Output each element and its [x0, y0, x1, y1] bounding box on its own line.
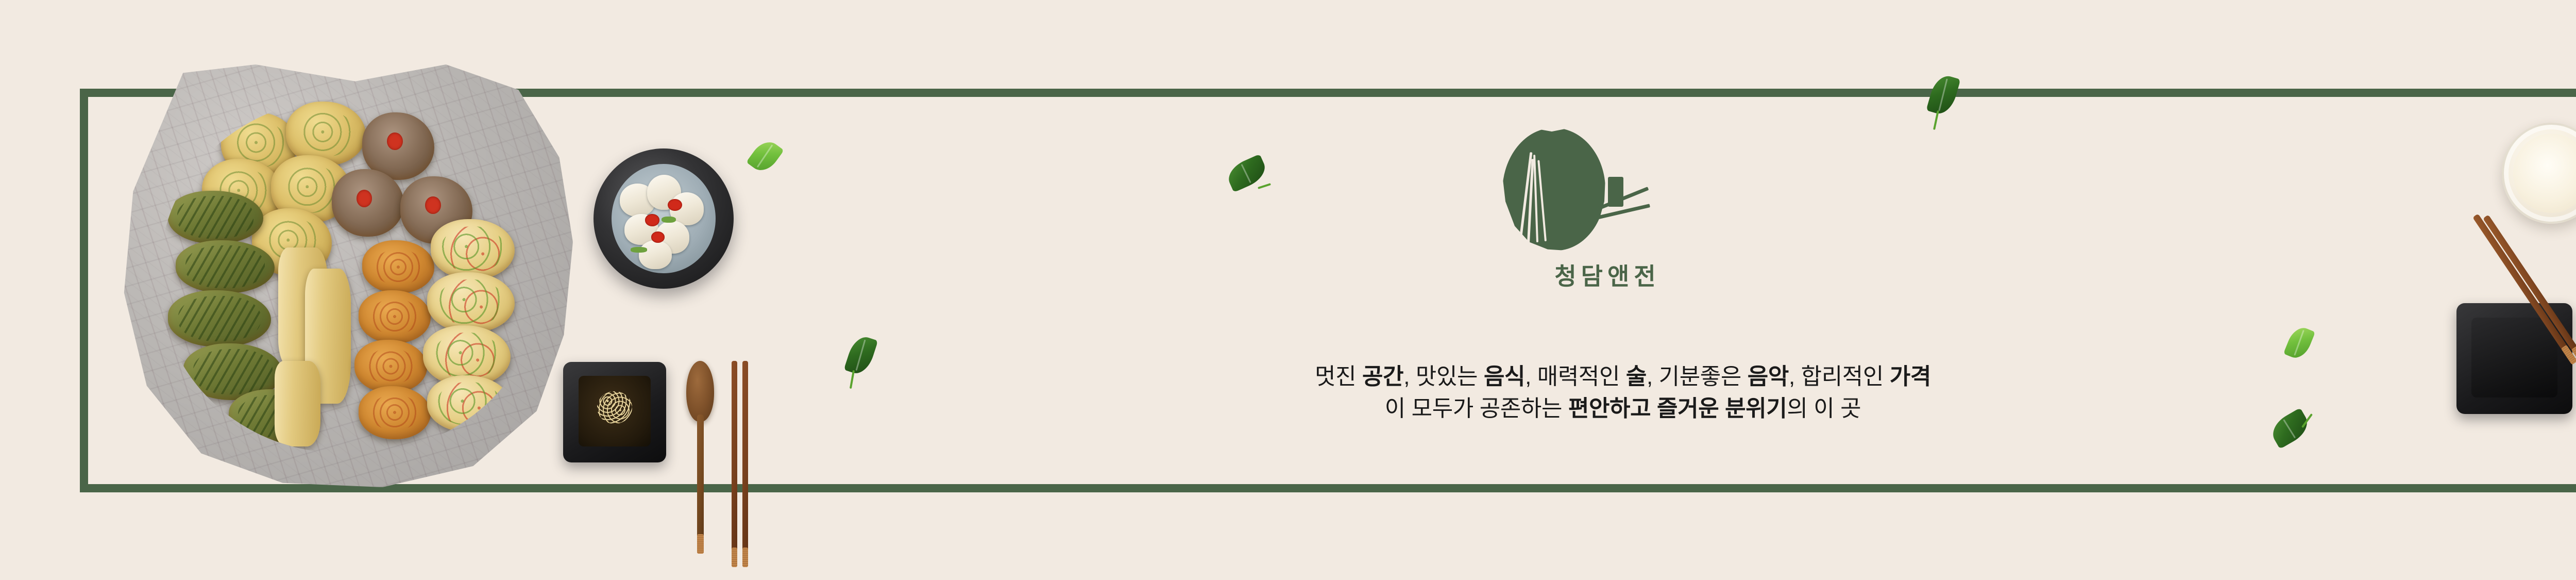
photo-chopstick-left-b: [742, 361, 748, 567]
chopstick-ferrule: [732, 548, 737, 567]
brand-name: 청담앤전: [1401, 258, 1814, 292]
leaf-stem: [1258, 183, 1271, 189]
basil-leaf-icon: [844, 334, 878, 377]
photo-wooden-spoon: [686, 361, 714, 567]
restaurant-promo-banner: 청담앤전 멋진 공간, 맛있는 음식, 매력적인 술, 기분좋은 음악, 합리적…: [0, 0, 2576, 580]
basil-leaf-icon: [746, 136, 784, 176]
dipping-sauce: [579, 376, 651, 446]
brush-oval-emblem: [1502, 128, 1605, 251]
clam-soup-broth: [612, 164, 715, 273]
basil-leaf-icon: [2283, 324, 2315, 361]
basil-leaf-icon: [2267, 408, 2313, 449]
sesame-seeds: [597, 391, 632, 424]
leaf-stem: [1933, 110, 1939, 130]
tagline-line-2: 이 모두가 공존하는 편안하고 즐거운 분위기의 이 곳: [1005, 393, 2241, 425]
spoon-ferrule: [697, 534, 704, 554]
chopstick-ferrule: [742, 548, 748, 567]
photo-chopstick-left-a: [732, 361, 737, 567]
photo-jeon-platter: [120, 64, 573, 487]
jeon-arrangement: [160, 98, 541, 454]
photo-soy-dipping-dish: [563, 362, 666, 462]
dish-interior: [2471, 318, 2557, 397]
photo-makgeolli-glass: [2502, 123, 2576, 224]
leaf-stem: [850, 370, 855, 389]
tagline: 멋진 공간, 맛있는 음식, 매력적인 술, 기분좋은 음악, 합리적인 가격 …: [1005, 361, 2241, 425]
brand-logo: 청담앤전: [1401, 128, 1814, 221]
tagline-line-1: 멋진 공간, 맛있는 음식, 매력적인 술, 기분좋은 음악, 합리적인 가격: [1005, 361, 2241, 393]
basil-leaf-icon: [1926, 73, 1960, 117]
makgeolli-liquid: [2513, 134, 2576, 213]
spoon-handle: [697, 415, 704, 554]
photo-clam-soup-bowl: [594, 148, 734, 289]
soju-cup-icon: [1690, 181, 1713, 199]
spoon-bowl: [686, 361, 714, 422]
